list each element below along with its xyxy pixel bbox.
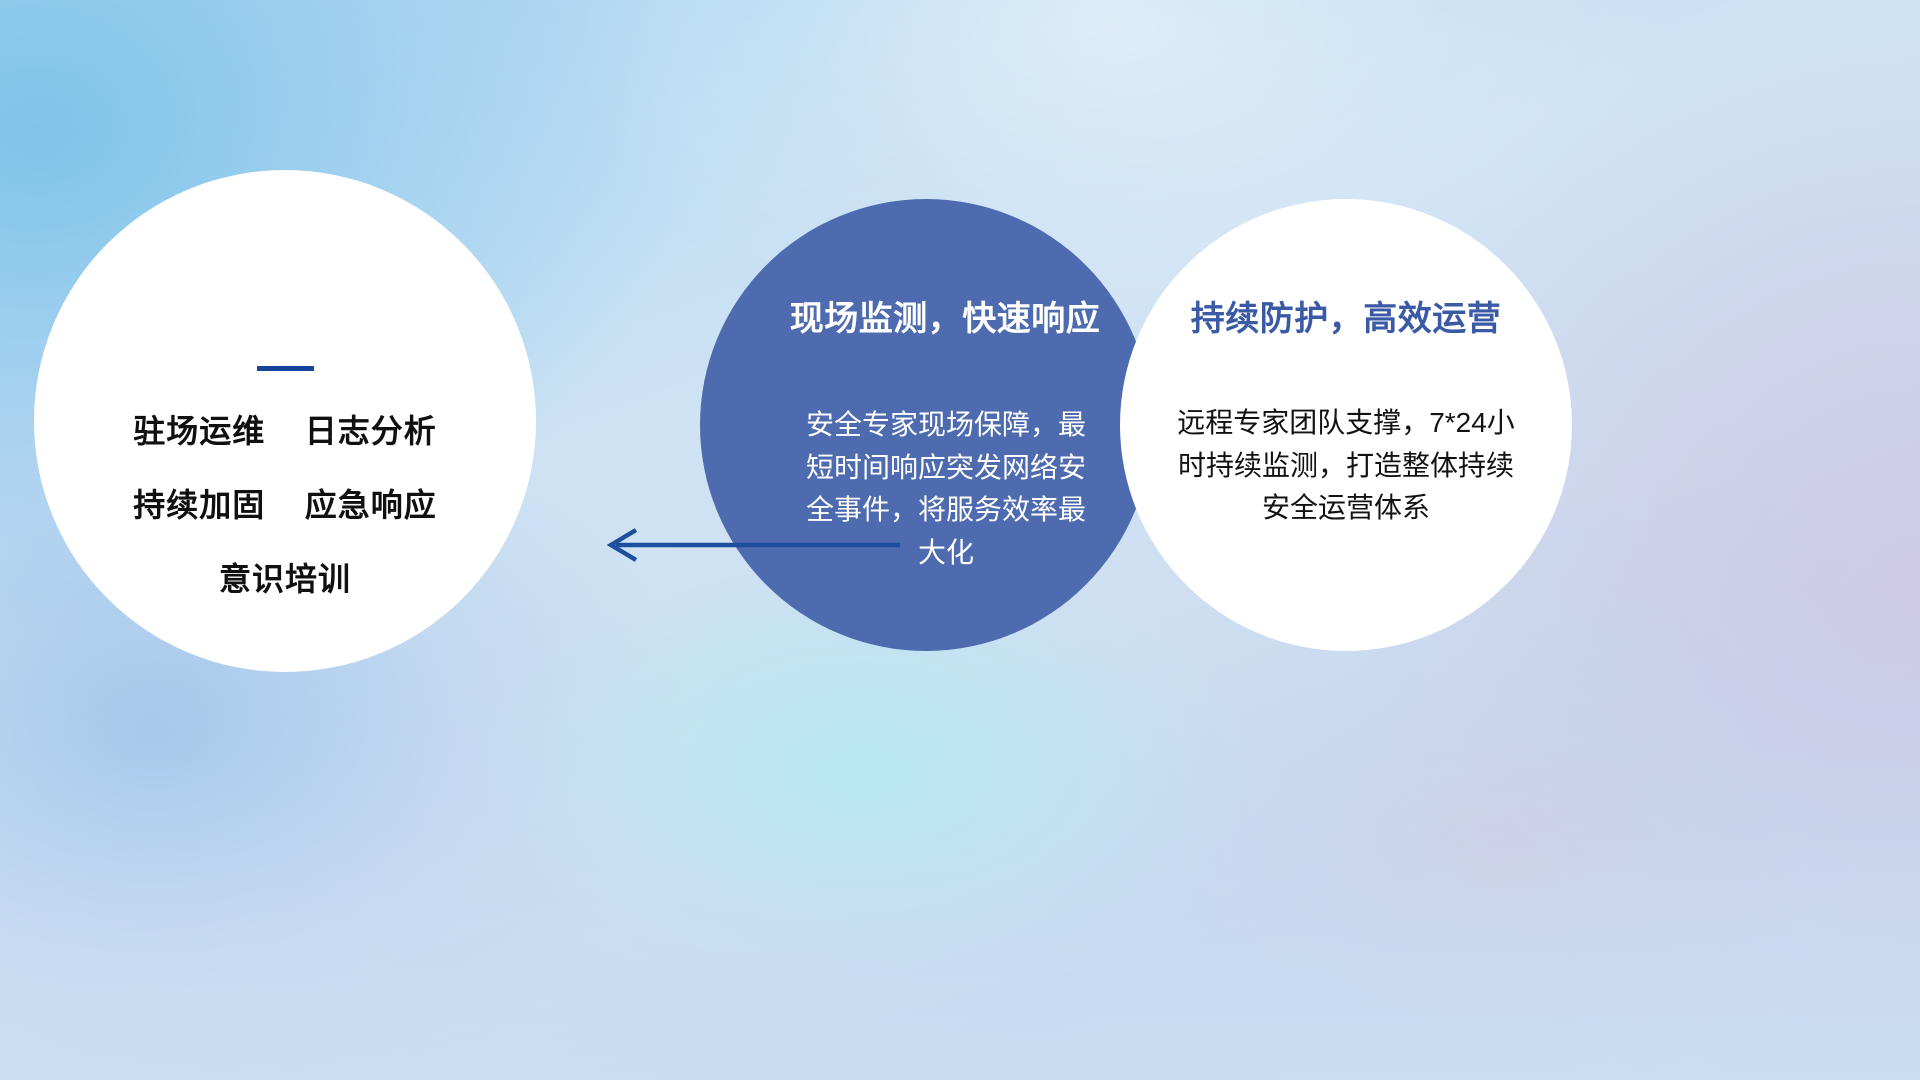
- onsite-monitoring-circle-content: 现场监测，快速响应 安全专家现场保障，最短时间响应突发网络安全事件，将服务效率最…: [700, 199, 1152, 651]
- capability-line-2: 持续加固 应急响应: [133, 489, 437, 521]
- capability-line-1: 驻场运维 日志分析: [133, 415, 437, 447]
- continuous-protection-body: 远程专家团队支撑，7*24小时持续监测，打造整体持续安全运营体系: [1170, 402, 1522, 530]
- onsite-monitoring-body: 安全专家现场保障，最短时间响应突发网络安全事件，将服务效率最大化: [796, 404, 1096, 574]
- continuous-protection-circle-content: 持续防护，高效运营 远程专家团队支撑，7*24小时持续监测，打造整体持续安全运营…: [1120, 199, 1572, 651]
- capability-line-3: 意识培训: [219, 563, 351, 595]
- continuous-protection-title: 持续防护，高效运营: [1191, 291, 1502, 340]
- onsite-monitoring-title: 现场监测，快速响应: [790, 291, 1101, 340]
- capabilities-circle-content: 驻场运维 日志分析 持续加固 应急响应 意识培训: [34, 170, 536, 672]
- divider-rule: [257, 366, 314, 371]
- slide-canvas: 驻场运维 日志分析 持续加固 应急响应 意识培训 现场监测，快速响应 安全专家现…: [0, 0, 1920, 1080]
